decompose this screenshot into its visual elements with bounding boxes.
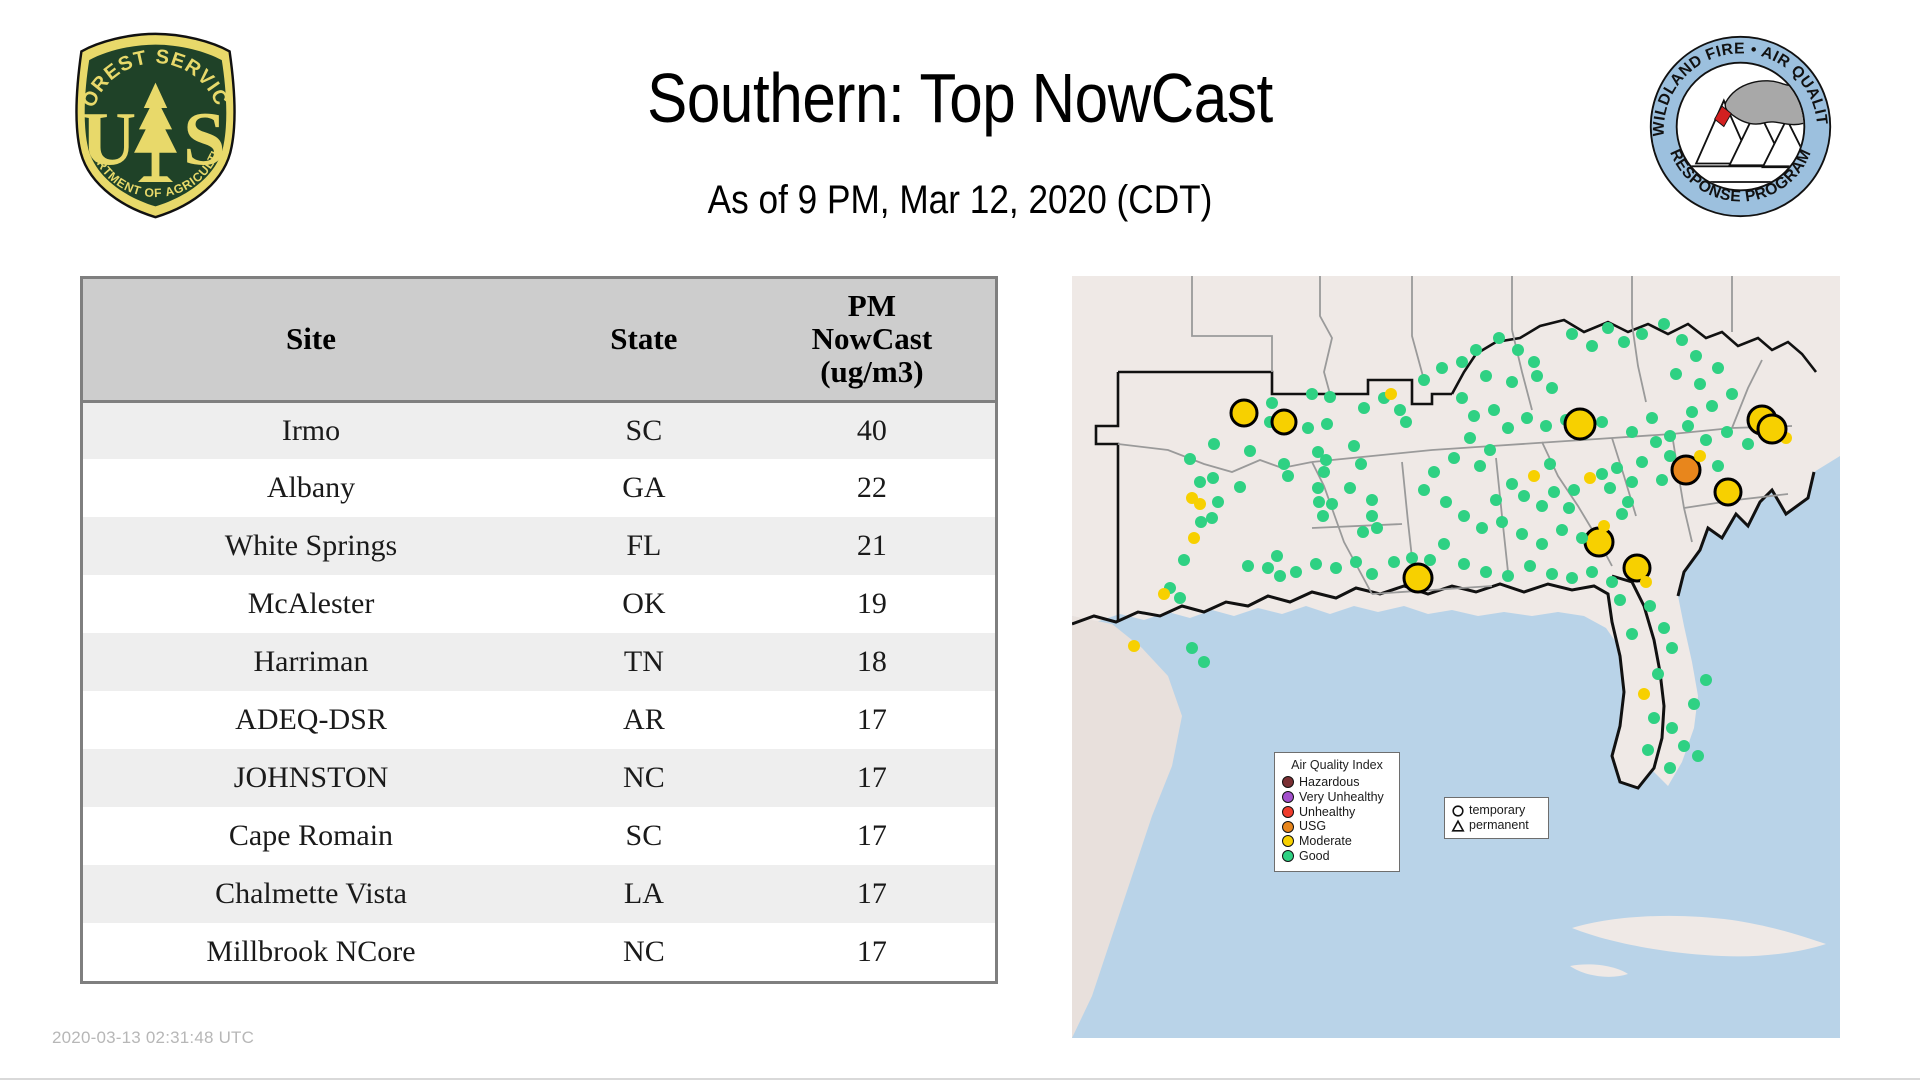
table-row[interactable]: ADEQ-DSRAR17	[83, 691, 995, 749]
aqi-legend: Air Quality Index HazardousVery Unhealth…	[1274, 752, 1400, 872]
monitor-dot[interactable]	[1330, 562, 1342, 574]
monitor-dot[interactable]	[1312, 446, 1324, 458]
monitor-dot[interactable]	[1484, 444, 1496, 456]
monitor-dot[interactable]	[1174, 592, 1186, 604]
aqi-swatch-icon	[1282, 850, 1294, 862]
monitor-dot[interactable]	[1528, 470, 1540, 482]
monitor-dot[interactable]	[1648, 712, 1660, 724]
top-nowcast-table-container: Site State PM NowCast (ug/m3) IrmoSC40Al…	[80, 276, 998, 984]
table-row[interactable]: HarrimanTN18	[83, 633, 995, 691]
aqi-legend-label: Very Unhealthy	[1299, 790, 1384, 805]
site-type-temporary-label: temporary	[1469, 803, 1525, 818]
top-site-monitor-dot[interactable]	[1272, 410, 1296, 434]
aqi-legend-item: Moderate	[1282, 834, 1392, 849]
monitor-dot[interactable]	[1536, 538, 1548, 550]
monitor-dot[interactable]	[1642, 744, 1654, 756]
pm-nowcast-cell: 17	[749, 749, 995, 807]
page-subtitle: As of 9 PM, Mar 12, 2020 (CDT)	[115, 178, 1805, 223]
aqi-legend-title: Air Quality Index	[1282, 758, 1392, 772]
monitor-dot[interactable]	[1586, 566, 1598, 578]
monitor-dot[interactable]	[1700, 434, 1712, 446]
site-type-permanent-label: permanent	[1469, 818, 1529, 833]
monitor-dot[interactable]	[1644, 600, 1656, 612]
monitor-dot[interactable]	[1658, 622, 1670, 634]
monitor-dot[interactable]	[1618, 336, 1630, 348]
table-header: Site State PM NowCast (ug/m3)	[83, 279, 995, 401]
monitor-dot[interactable]	[1184, 453, 1196, 465]
monitor-dot[interactable]	[1688, 698, 1700, 710]
column-header-site[interactable]: Site	[83, 279, 539, 401]
monitor-dot[interactable]	[1650, 436, 1662, 448]
monitor-dot[interactable]	[1206, 512, 1218, 524]
aqi-swatch-icon	[1282, 776, 1294, 788]
monitor-dot[interactable]	[1666, 722, 1678, 734]
monitor-dot[interactable]	[1178, 554, 1190, 566]
pm-nowcast-cell: 22	[749, 459, 995, 517]
monitor-dot[interactable]	[1195, 516, 1207, 528]
monitor-dot[interactable]	[1366, 510, 1378, 522]
monitor-dot[interactable]	[1692, 750, 1704, 762]
monitor-dot[interactable]	[1326, 498, 1338, 510]
air-quality-monitor-map[interactable]: Air Quality Index HazardousVery Unhealth…	[1072, 276, 1840, 1038]
monitor-dot[interactable]	[1385, 388, 1397, 400]
table-body: IrmoSC40AlbanyGA22White SpringsFL21McAle…	[83, 401, 995, 981]
monitor-dot[interactable]	[1186, 642, 1198, 654]
monitor-dot[interactable]	[1566, 572, 1578, 584]
monitor-dot[interactable]	[1208, 438, 1220, 450]
top-site-monitor-dot[interactable]	[1758, 415, 1786, 443]
monitor-dot[interactable]	[1614, 594, 1626, 606]
site-cell: Albany	[83, 459, 539, 517]
state-cell: LA	[539, 865, 749, 923]
monitor-dot[interactable]	[1604, 482, 1616, 494]
site-cell: ADEQ-DSR	[83, 691, 539, 749]
monitor-dot[interactable]	[1524, 560, 1536, 572]
pm-nowcast-cell: 17	[749, 923, 995, 981]
monitor-dot[interactable]	[1194, 498, 1206, 510]
aqi-legend-label: USG	[1299, 819, 1326, 834]
monitor-dot[interactable]	[1506, 376, 1518, 388]
monitor-dot[interactable]	[1388, 556, 1400, 568]
monitor-dot[interactable]	[1406, 552, 1418, 564]
monitor-dot[interactable]	[1318, 466, 1330, 478]
page-title: Southern: Top NowCast	[134, 58, 1785, 138]
monitor-dot[interactable]	[1128, 640, 1140, 652]
monitor-dot[interactable]	[1540, 420, 1552, 432]
pm-nowcast-cell: 21	[749, 517, 995, 575]
monitor-dot[interactable]	[1518, 490, 1530, 502]
table-row[interactable]: AlbanyGA22	[83, 459, 995, 517]
monitor-dot[interactable]	[1344, 482, 1356, 494]
aqi-legend-item: Very Unhealthy	[1282, 790, 1392, 805]
state-cell: NC	[539, 749, 749, 807]
monitor-dot[interactable]	[1290, 566, 1302, 578]
site-type-permanent: permanent	[1451, 818, 1542, 833]
aqi-legend-label: Unhealthy	[1299, 805, 1355, 820]
site-cell: Irmo	[83, 401, 539, 459]
monitor-dot[interactable]	[1576, 532, 1588, 544]
monitor-dot[interactable]	[1598, 520, 1610, 532]
state-cell: AR	[539, 691, 749, 749]
monitor-dot[interactable]	[1556, 524, 1568, 536]
table-header-row: Site State PM NowCast (ug/m3)	[83, 279, 995, 401]
monitor-dot[interactable]	[1244, 445, 1256, 457]
monitor-dot[interactable]	[1313, 496, 1325, 508]
monitor-dot[interactable]	[1302, 422, 1314, 434]
monitor-dot[interactable]	[1712, 460, 1724, 472]
monitor-dot[interactable]	[1596, 468, 1608, 480]
table-row[interactable]: Chalmette VistaLA17	[83, 865, 995, 923]
monitor-dot[interactable]	[1242, 560, 1254, 572]
monitor-dot[interactable]	[1324, 391, 1336, 403]
pm-nowcast-cell: 17	[749, 865, 995, 923]
top-site-monitor-dot[interactable]	[1585, 528, 1613, 556]
monitor-dot[interactable]	[1350, 556, 1362, 568]
monitor-dot[interactable]	[1234, 481, 1246, 493]
monitor-dot[interactable]	[1480, 566, 1492, 578]
nowcast-report-page: FOREST SERVICE U S DEPARTMENT OF AGRICUL…	[0, 0, 1920, 1080]
monitor-dot[interactable]	[1207, 472, 1219, 484]
aqi-swatch-icon	[1282, 791, 1294, 803]
monitor-dot[interactable]	[1521, 412, 1533, 424]
monitor-dot[interactable]	[1438, 538, 1450, 550]
monitor-dot[interactable]	[1274, 570, 1286, 582]
site-cell: McAlester	[83, 575, 539, 633]
site-cell: Chalmette Vista	[83, 865, 539, 923]
monitor-dot[interactable]	[1358, 402, 1370, 414]
monitor-dot[interactable]	[1312, 482, 1324, 494]
monitor-dot[interactable]	[1502, 422, 1514, 434]
monitor-dot[interactable]	[1546, 382, 1558, 394]
monitor-dot[interactable]	[1690, 350, 1702, 362]
monitor-dot[interactable]	[1666, 642, 1678, 654]
monitor-dot[interactable]	[1158, 588, 1170, 600]
monitor-dot[interactable]	[1480, 370, 1492, 382]
site-type-legend: temporary permanent	[1444, 797, 1549, 839]
aqi-swatch-icon	[1282, 806, 1294, 818]
monitor-dot[interactable]	[1400, 416, 1412, 428]
monitor-dot[interactable]	[1586, 340, 1598, 352]
table-row[interactable]: JOHNSTONNC17	[83, 749, 995, 807]
table-row[interactable]: IrmoSC40	[83, 401, 995, 459]
monitor-dot[interactable]	[1606, 576, 1618, 588]
wildland-fire-air-quality-response-program-logo: WILDLAND FIRE • AIR QUALITY RESPONSE PRO…	[1648, 34, 1833, 219]
top-site-monitor-dot[interactable]	[1715, 479, 1741, 505]
monitor-dot[interactable]	[1694, 450, 1706, 462]
monitor-dot[interactable]	[1544, 458, 1556, 470]
monitor-dot[interactable]	[1357, 526, 1369, 538]
monitor-dot[interactable]	[1568, 484, 1580, 496]
monitor-dot[interactable]	[1636, 456, 1648, 468]
monitor-dot[interactable]	[1282, 470, 1294, 482]
monitor-dot[interactable]	[1394, 404, 1406, 416]
aqi-legend-item: Unhealthy	[1282, 805, 1392, 820]
state-cell: FL	[539, 517, 749, 575]
monitor-dot[interactable]	[1531, 370, 1543, 382]
site-cell: Millbrook NCore	[83, 923, 539, 981]
monitor-dot[interactable]	[1694, 378, 1706, 390]
monitor-dot[interactable]	[1626, 426, 1638, 438]
state-cell: TN	[539, 633, 749, 691]
aqi-legend-items: HazardousVery UnhealthyUnhealthyUSGModer…	[1282, 775, 1392, 864]
monitor-dot[interactable]	[1490, 494, 1502, 506]
pm-nowcast-cell: 18	[749, 633, 995, 691]
monitor-dot[interactable]	[1428, 466, 1440, 478]
circle-outline-icon	[1451, 804, 1465, 818]
monitor-dot[interactable]	[1616, 508, 1628, 520]
state-cell: GA	[539, 459, 749, 517]
monitor-dot[interactable]	[1496, 516, 1508, 528]
pm-nowcast-cell: 40	[749, 401, 995, 459]
monitor-dot[interactable]	[1436, 362, 1448, 374]
monitor-dot[interactable]	[1468, 410, 1480, 422]
top-nowcast-table: Site State PM NowCast (ug/m3) IrmoSC40Al…	[83, 279, 995, 981]
aqi-swatch-icon	[1282, 821, 1294, 833]
monitor-dot[interactable]	[1355, 458, 1367, 470]
generated-timestamp: 2020-03-13 02:31:48 UTC	[52, 1028, 254, 1048]
pm-nowcast-cell: 19	[749, 575, 995, 633]
monitor-dot[interactable]	[1488, 404, 1500, 416]
monitor-dot[interactable]	[1596, 416, 1608, 428]
site-type-temporary: temporary	[1451, 803, 1542, 818]
monitor-dot[interactable]	[1682, 420, 1694, 432]
monitor-dot[interactable]	[1712, 362, 1724, 374]
monitor-dot[interactable]	[1721, 426, 1733, 438]
monitor-dot[interactable]	[1366, 568, 1378, 580]
monitor-dot[interactable]	[1306, 388, 1318, 400]
monitor-dot[interactable]	[1686, 406, 1698, 418]
monitor-dot[interactable]	[1418, 374, 1430, 386]
monitor-dot[interactable]	[1470, 344, 1482, 356]
monitor-dot[interactable]	[1366, 494, 1378, 506]
monitor-dot[interactable]	[1678, 740, 1690, 752]
monitor-dot[interactable]	[1512, 344, 1524, 356]
table-row[interactable]: Cape RomainSC17	[83, 807, 995, 865]
table-row[interactable]: White SpringsFL21	[83, 517, 995, 575]
monitor-dot[interactable]	[1458, 558, 1470, 570]
monitor-dot[interactable]	[1611, 462, 1623, 474]
map-canvas[interactable]	[1072, 276, 1840, 1038]
aqi-legend-item: Hazardous	[1282, 775, 1392, 790]
monitor-dot[interactable]	[1626, 476, 1638, 488]
site-cell: JOHNSTON	[83, 749, 539, 807]
monitor-dot[interactable]	[1262, 562, 1274, 574]
top-site-monitor-dot[interactable]	[1231, 400, 1257, 426]
monitor-dot[interactable]	[1638, 688, 1650, 700]
state-cell: NC	[539, 923, 749, 981]
monitor-dot[interactable]	[1726, 388, 1738, 400]
monitor-dot[interactable]	[1528, 356, 1540, 368]
monitor-dot[interactable]	[1742, 438, 1754, 450]
site-cell: White Springs	[83, 517, 539, 575]
state-cell: SC	[539, 807, 749, 865]
monitor-dot[interactable]	[1212, 496, 1224, 508]
monitor-dot[interactable]	[1656, 474, 1668, 486]
pm-nowcast-cell: 17	[749, 691, 995, 749]
aqi-legend-item: Good	[1282, 849, 1392, 864]
top-site-monitor-dot[interactable]	[1404, 564, 1432, 592]
monitor-dot[interactable]	[1278, 458, 1290, 470]
monitor-dot[interactable]	[1626, 628, 1638, 640]
monitor-dot[interactable]	[1456, 392, 1468, 404]
monitor-dot[interactable]	[1646, 412, 1658, 424]
monitor-dot[interactable]	[1706, 400, 1718, 412]
monitor-dot[interactable]	[1310, 558, 1322, 570]
monitor-dot[interactable]	[1622, 496, 1634, 508]
monitor-dot[interactable]	[1664, 430, 1676, 442]
monitor-dot[interactable]	[1198, 656, 1210, 668]
monitor-dot[interactable]	[1670, 368, 1682, 380]
monitor-dot[interactable]	[1188, 532, 1200, 544]
monitor-dot[interactable]	[1456, 356, 1468, 368]
monitor-dot[interactable]	[1566, 328, 1578, 340]
monitor-dot[interactable]	[1658, 318, 1670, 330]
monitor-dot[interactable]	[1584, 472, 1596, 484]
monitor-dot[interactable]	[1464, 432, 1476, 444]
state-cell: OK	[539, 575, 749, 633]
top-site-monitor-dot[interactable]	[1565, 409, 1595, 439]
monitor-dot[interactable]	[1664, 450, 1676, 462]
column-header-state[interactable]: State	[539, 279, 749, 401]
aqi-legend-item: USG	[1282, 819, 1392, 834]
monitor-dot[interactable]	[1474, 460, 1486, 472]
monitor-dot[interactable]	[1548, 486, 1560, 498]
triangle-outline-icon	[1451, 819, 1465, 833]
site-cell: Harriman	[83, 633, 539, 691]
state-cell: SC	[539, 401, 749, 459]
monitor-dot[interactable]	[1476, 522, 1488, 534]
monitor-dot[interactable]	[1266, 397, 1278, 409]
monitor-dot[interactable]	[1602, 322, 1614, 334]
column-header-pm-line1: PM	[753, 290, 991, 323]
aqi-legend-label: Moderate	[1299, 834, 1352, 849]
monitor-dot[interactable]	[1516, 528, 1528, 540]
column-header-pm-nowcast[interactable]: PM NowCast (ug/m3)	[749, 279, 995, 401]
monitor-dot[interactable]	[1536, 500, 1548, 512]
table-row[interactable]: Millbrook NCoreNC17	[83, 923, 995, 981]
monitor-dot[interactable]	[1493, 332, 1505, 344]
monitor-dot[interactable]	[1546, 568, 1558, 580]
monitor-dot[interactable]	[1636, 328, 1648, 340]
column-header-pm-line2: NowCast	[753, 323, 991, 356]
monitor-dot[interactable]	[1371, 522, 1383, 534]
monitor-dot[interactable]	[1348, 440, 1360, 452]
pm-nowcast-cell: 17	[749, 807, 995, 865]
monitor-dot[interactable]	[1664, 762, 1676, 774]
aqi-legend-label: Hazardous	[1299, 775, 1359, 790]
aqi-swatch-icon	[1282, 835, 1294, 847]
monitor-dot[interactable]	[1563, 502, 1575, 514]
monitor-dot[interactable]	[1418, 484, 1430, 496]
monitor-dot[interactable]	[1317, 510, 1329, 522]
site-cell: Cape Romain	[83, 807, 539, 865]
monitor-dot[interactable]	[1194, 476, 1206, 488]
monitor-dot[interactable]	[1676, 334, 1688, 346]
table-row[interactable]: McAlesterOK19	[83, 575, 995, 633]
aqi-legend-label: Good	[1299, 849, 1330, 864]
column-header-pm-line3: (ug/m3)	[753, 356, 991, 389]
monitor-dot[interactable]	[1700, 674, 1712, 686]
monitor-dot[interactable]	[1502, 570, 1514, 582]
monitor-dot[interactable]	[1640, 576, 1652, 588]
monitor-dot[interactable]	[1321, 418, 1333, 430]
monitor-dot[interactable]	[1448, 452, 1460, 464]
monitor-dot[interactable]	[1458, 510, 1470, 522]
monitor-dot[interactable]	[1440, 496, 1452, 508]
monitor-dot[interactable]	[1652, 668, 1664, 680]
monitor-dot[interactable]	[1424, 554, 1436, 566]
monitor-dot[interactable]	[1506, 478, 1518, 490]
monitor-dot[interactable]	[1271, 550, 1283, 562]
